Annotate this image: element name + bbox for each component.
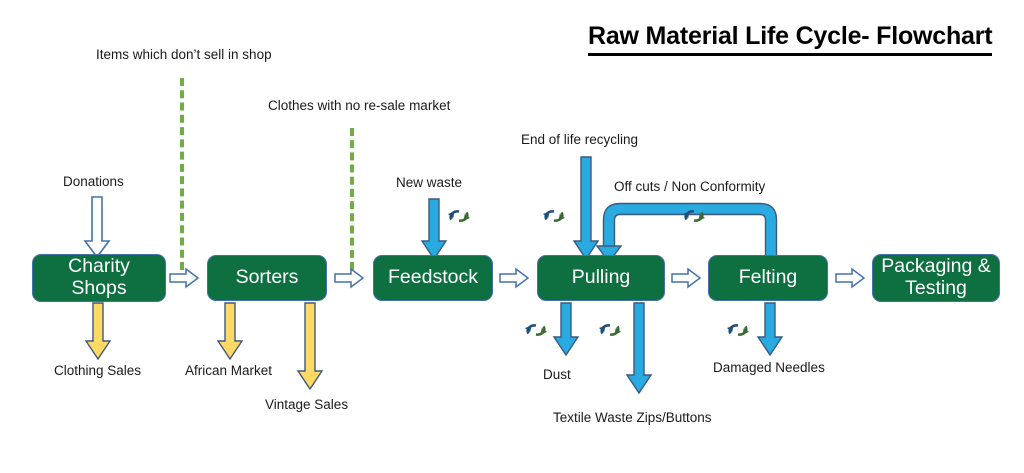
process-label-line: Packaging & bbox=[881, 256, 991, 278]
input-label-new-waste: New waste bbox=[396, 175, 462, 190]
flow-arrow-felting-to-packaging bbox=[836, 268, 866, 288]
damaged-needles-arrow bbox=[755, 303, 785, 357]
recycle-icon bbox=[598, 321, 620, 337]
flow-arrow-pulling-to-felting bbox=[672, 268, 702, 288]
stage-separator-1 bbox=[180, 78, 184, 270]
process-label-line: Pulling bbox=[572, 267, 631, 289]
output-label-dust: Dust bbox=[543, 367, 571, 382]
process-box-charity-shops[interactable]: Charity Shops bbox=[32, 254, 166, 302]
flow-arrow-feedstock-to-pulling bbox=[500, 268, 530, 288]
new-waste-arrow bbox=[419, 199, 449, 261]
stage-separator-2 bbox=[350, 128, 354, 270]
flowchart-canvas: Raw Material Life Cycle- Flowchart Items… bbox=[0, 0, 1024, 473]
page-title: Raw Material Life Cycle- Flowchart bbox=[588, 22, 992, 56]
output-label-clothing-sales: Clothing Sales bbox=[54, 363, 141, 378]
recycle-icon bbox=[682, 207, 704, 223]
recycle-icon bbox=[542, 207, 564, 223]
output-label-damaged-needles: Damaged Needles bbox=[713, 360, 825, 375]
process-box-sorters[interactable]: Sorters bbox=[207, 255, 327, 301]
textile-waste-arrow bbox=[624, 303, 654, 395]
recycle-icon bbox=[726, 321, 748, 337]
process-box-packaging-testing[interactable]: Packaging & Testing bbox=[872, 254, 1000, 302]
recycle-icon bbox=[447, 207, 469, 223]
process-box-felting[interactable]: Felting bbox=[708, 255, 828, 301]
process-box-feedstock[interactable]: Feedstock bbox=[373, 255, 493, 301]
output-label-african-market: African Market bbox=[185, 363, 272, 378]
dust-arrow bbox=[551, 303, 581, 357]
input-label-donations: Donations bbox=[63, 174, 124, 189]
separator-label-1: Items which don’t sell in shop bbox=[96, 47, 272, 62]
separator-label-2: Clothes with no re-sale market bbox=[268, 98, 450, 113]
process-label-line: Sorters bbox=[236, 267, 299, 289]
african-market-arrow bbox=[215, 303, 245, 361]
process-label-line: Testing bbox=[905, 278, 967, 300]
feedback-loop-label: Off cuts / Non Conformity bbox=[614, 179, 765, 194]
process-label-line: Shops bbox=[71, 278, 126, 300]
process-label-line: Charity bbox=[68, 256, 130, 278]
flow-arrow-sorters-to-feedstock bbox=[335, 268, 365, 288]
process-label-line: Feedstock bbox=[388, 267, 478, 289]
recycle-icon bbox=[524, 321, 546, 337]
donations-arrow bbox=[83, 197, 111, 259]
output-label-textile-waste: Textile Waste Zips/Buttons bbox=[553, 410, 712, 425]
flow-arrow-charity-to-sorters bbox=[170, 268, 200, 288]
output-label-vintage-sales: Vintage Sales bbox=[265, 397, 348, 412]
input-label-end-of-life-recycling: End of life recycling bbox=[521, 132, 638, 147]
clothing-sales-arrow bbox=[83, 303, 113, 361]
process-box-pulling[interactable]: Pulling bbox=[537, 255, 665, 301]
vintage-sales-arrow bbox=[295, 303, 325, 391]
process-label-line: Felting bbox=[739, 267, 798, 289]
